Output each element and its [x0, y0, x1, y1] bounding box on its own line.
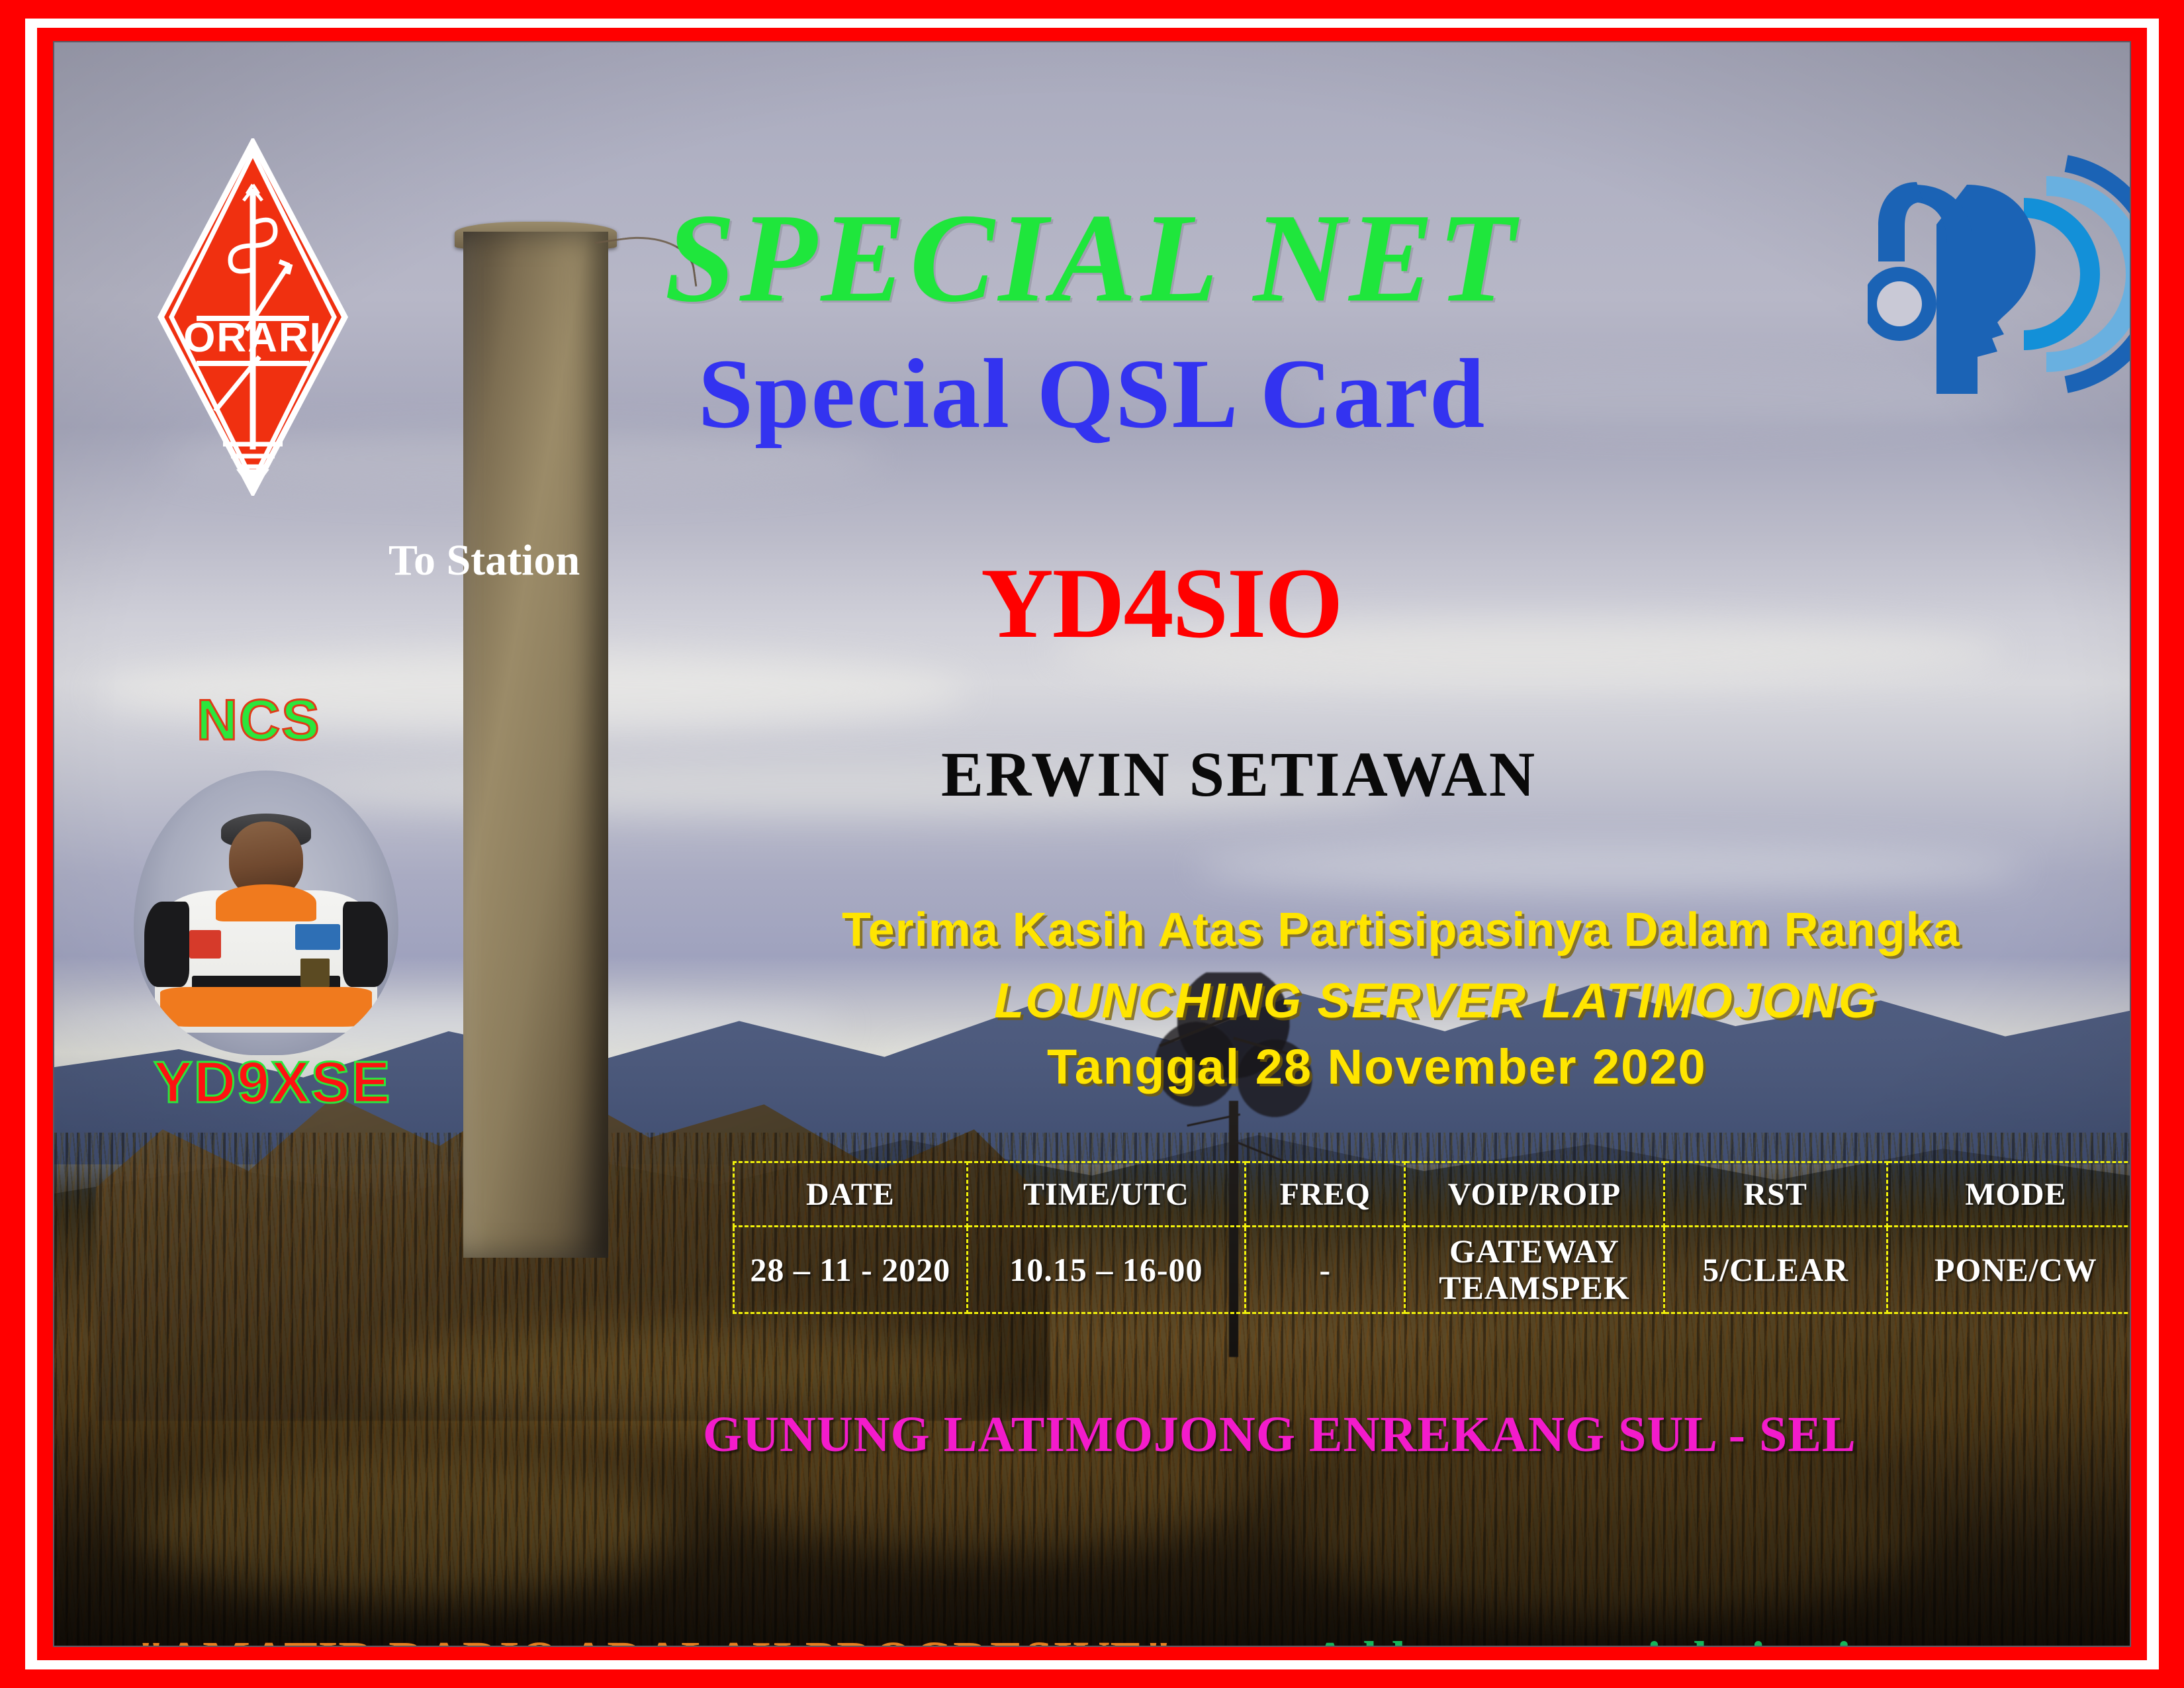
event-date-line: Tanggal 28 November 2020	[1047, 1039, 1707, 1095]
cloud-streak	[1196, 844, 2026, 892]
photo-id-card	[300, 959, 330, 987]
col-header-freq: FREQ	[1246, 1162, 1405, 1227]
footer-motto: "AMATIR RADIO ADALAH PROGRESIVE"	[137, 1631, 1173, 1647]
net-title: SPECIAL NET	[54, 185, 2130, 331]
cell-time: 10.15 – 16-00	[967, 1227, 1246, 1313]
footer-web-address: Address : amatir.latimojong.com	[1312, 1631, 2036, 1647]
photo-badge-right	[295, 924, 340, 950]
location-line: GUNUNG LATIMOJONG ENREKANG SUL - SEL	[703, 1406, 1856, 1464]
station-callsign: YD4SIO	[981, 545, 1342, 661]
col-header-time: TIME/UTC	[967, 1162, 1246, 1227]
ncs-label: NCS	[197, 688, 321, 753]
to-station-label: To Station	[388, 536, 580, 586]
card-photo-background: ORARI SPECIAL NET Special QSL Card	[53, 41, 2131, 1647]
cell-rst: 5/CLEAR	[1664, 1227, 1887, 1313]
card-title: Special QSL Card	[54, 337, 2130, 451]
table-row: 28 – 11 - 2020 10.15 – 16-00 - GATEWAY T…	[734, 1227, 2132, 1313]
photo-sleeve-left	[144, 902, 189, 987]
cell-freq: -	[1246, 1227, 1405, 1313]
cell-date: 28 – 11 - 2020	[734, 1227, 968, 1313]
cell-mode: PONE/CW	[1887, 1227, 2131, 1313]
col-header-rst: RST	[1664, 1162, 1887, 1227]
col-header-mode: MODE	[1887, 1162, 2131, 1227]
event-thanks-line: Terima Kasih Atas Partisipasinya Dalam R…	[842, 903, 1960, 957]
table-header-row: DATE TIME/UTC FREQ VOIP/ROIP RST MODE	[734, 1162, 2132, 1227]
qso-log-table: DATE TIME/UTC FREQ VOIP/ROIP RST MODE 28…	[733, 1161, 2131, 1314]
col-header-date: DATE	[734, 1162, 968, 1227]
cell-voip: GATEWAY TEAMSPEK	[1405, 1227, 1664, 1313]
ncs-callsign: YD9XSE	[154, 1049, 391, 1116]
photo-badge-left	[189, 930, 221, 959]
cell-voip-line2: TEAMSPEK	[1439, 1269, 1630, 1306]
operator-name: ERWIN SETIAWAN	[941, 737, 1537, 811]
event-title-line: LOUNCHING SERVER LATIMOJONG	[994, 972, 1878, 1029]
col-header-voip: VOIP/ROIP	[1405, 1162, 1664, 1227]
photo-sleeve-right	[343, 902, 388, 987]
photo-collar	[216, 884, 316, 921]
photo-sash	[160, 987, 372, 1027]
qsl-card: ORARI SPECIAL NET Special QSL Card	[0, 0, 2184, 1688]
cell-voip-line1: GATEWAY	[1449, 1233, 1619, 1270]
